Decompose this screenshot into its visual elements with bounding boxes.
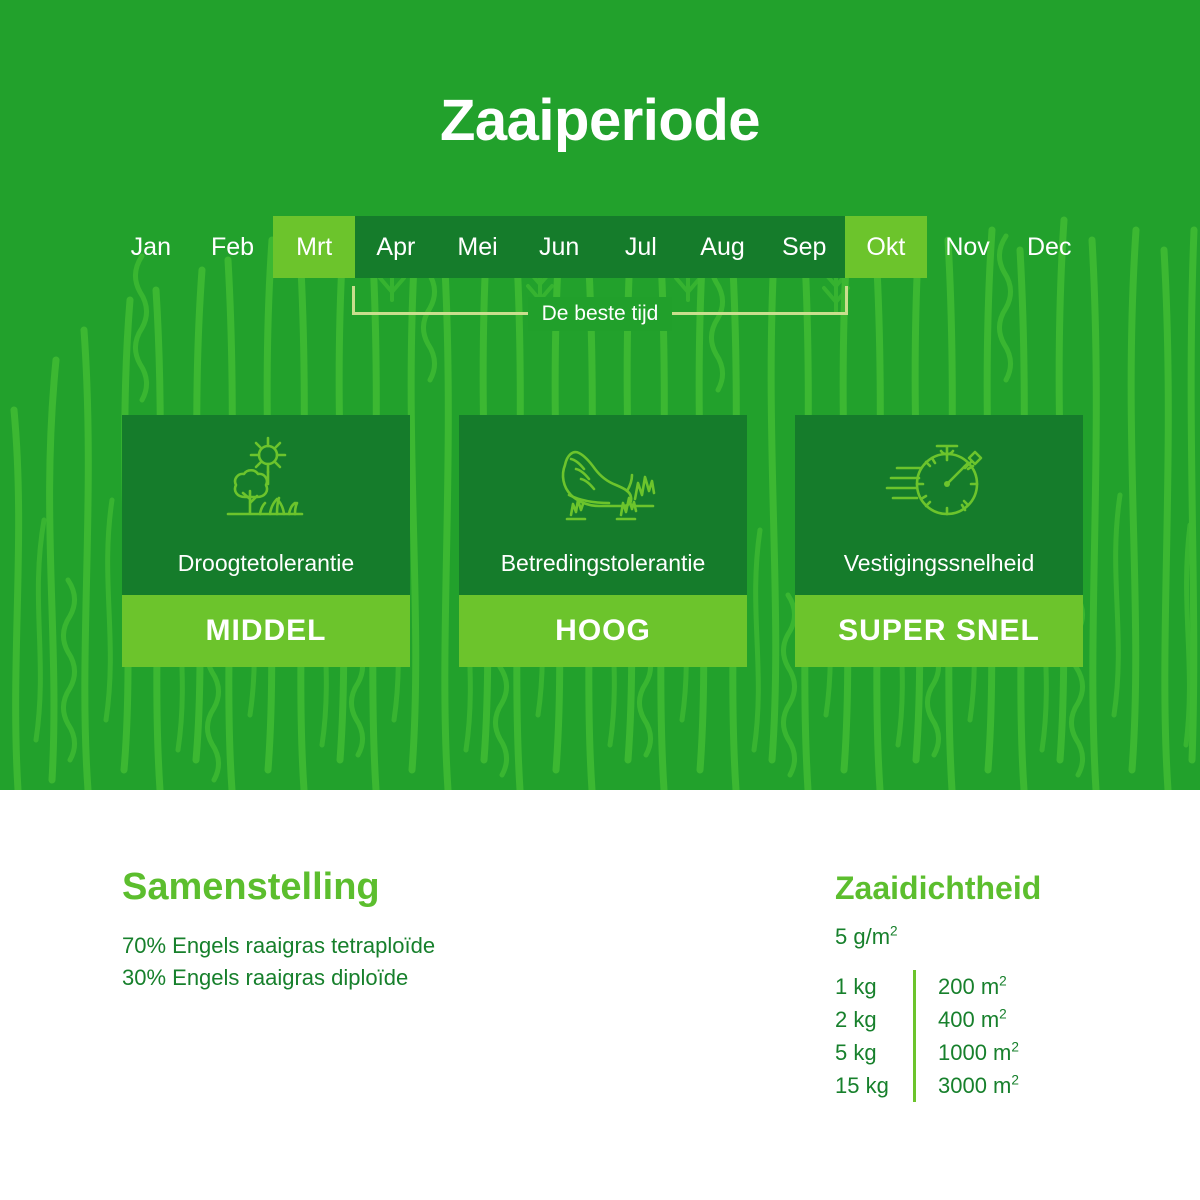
card-top: Droogtetolerantie (122, 415, 410, 595)
month-cell-dec[interactable]: Dec (1008, 216, 1090, 278)
attribute-card-wear-tolerance: Betredingstolerantie HOOG (459, 415, 747, 667)
card-label: Droogtetolerantie (122, 552, 410, 575)
density-weight: 1 kg (835, 976, 913, 998)
density-area: 3000 m2 (938, 1075, 1019, 1097)
month-cell-mrt[interactable]: Mrt (273, 216, 355, 278)
month-cell-feb[interactable]: Feb (192, 216, 274, 278)
composition-heading: Samenstelling (122, 868, 435, 906)
card-value: HOOG (459, 595, 747, 667)
attribute-card-establishment-speed: Vestigingssnelheid SUPER SNEL (795, 415, 1083, 667)
density-area-unit: 2 (999, 973, 1007, 988)
density-area: 200 m2 (938, 976, 1007, 998)
table-row: 1 kg 200 m2 (835, 970, 1041, 1003)
hero-section: Zaaiperiode Jan Feb Mrt Apr Mei Jun Jul … (0, 0, 1200, 790)
month-cell-sep[interactable]: Sep (763, 216, 845, 278)
density-area-value: 200 m (938, 974, 999, 999)
density-area-unit: 2 (999, 1006, 1007, 1021)
table-divider (913, 1036, 916, 1069)
month-cell-jan[interactable]: Jan (110, 216, 192, 278)
table-divider (913, 970, 916, 1003)
composition-list: 70% Engels raaigras tetraploïde 30% Enge… (122, 930, 435, 994)
density-block: Zaaidichtheid 5 g/m2 1 kg 200 m2 2 kg 40… (835, 872, 1041, 1102)
density-weight: 15 kg (835, 1075, 913, 1097)
stopwatch-speed-icon (795, 433, 1083, 525)
density-area-value: 1000 m (938, 1040, 1011, 1065)
density-table: 1 kg 200 m2 2 kg 400 m2 5 kg 1000 m2 15 … (835, 970, 1041, 1102)
month-cell-apr[interactable]: Apr (355, 216, 437, 278)
bracket-label-wrap: De beste tijd (352, 286, 848, 320)
list-item: 30% Engels raaigras diploïde (122, 962, 435, 994)
density-area-unit: 2 (1011, 1039, 1019, 1054)
density-heading: Zaaidichtheid (835, 872, 1041, 904)
density-weight: 2 kg (835, 1009, 913, 1031)
density-rate: 5 g/m2 (835, 926, 1041, 948)
table-divider (913, 1003, 916, 1036)
details-section: Samenstelling 70% Engels raaigras tetrap… (0, 790, 1200, 1200)
month-cell-aug[interactable]: Aug (682, 216, 764, 278)
sowing-period-month-bar: Jan Feb Mrt Apr Mei Jun Jul Aug Sep Okt … (110, 216, 1090, 278)
card-value: SUPER SNEL (795, 595, 1083, 667)
density-area-unit: 2 (1011, 1072, 1019, 1087)
shoe-grass-icon (459, 433, 747, 525)
table-row: 5 kg 1000 m2 (835, 1036, 1041, 1069)
card-top: Vestigingssnelheid (795, 415, 1083, 595)
card-top: Betredingstolerantie (459, 415, 747, 595)
table-row: 2 kg 400 m2 (835, 1003, 1041, 1036)
list-item: 70% Engels raaigras tetraploïde (122, 930, 435, 962)
month-cell-okt[interactable]: Okt (845, 216, 927, 278)
month-cell-jun[interactable]: Jun (518, 216, 600, 278)
density-area: 400 m2 (938, 1009, 1007, 1031)
density-rate-value: 5 g/m (835, 924, 890, 949)
month-cell-jul[interactable]: Jul (600, 216, 682, 278)
month-cell-nov[interactable]: Nov (927, 216, 1009, 278)
card-value: MIDDEL (122, 595, 410, 667)
attribute-card-drought-tolerance: Droogtetolerantie MIDDEL (122, 415, 410, 667)
card-label: Vestigingssnelheid (795, 552, 1083, 575)
month-cell-mei[interactable]: Mei (437, 216, 519, 278)
density-weight: 5 kg (835, 1042, 913, 1064)
table-row: 15 kg 3000 m2 (835, 1069, 1041, 1102)
page-title: Zaaiperiode (0, 92, 1200, 150)
density-area: 1000 m2 (938, 1042, 1019, 1064)
density-area-value: 400 m (938, 1007, 999, 1032)
table-divider (913, 1069, 916, 1102)
best-time-label: De beste tijd (528, 297, 673, 331)
density-rate-unit: 2 (890, 924, 898, 939)
best-time-bracket: De beste tijd (352, 286, 848, 320)
sun-tree-grass-icon (122, 433, 410, 525)
attribute-cards: Droogtetolerantie MIDDEL (0, 415, 1200, 670)
card-label: Betredingstolerantie (459, 552, 747, 575)
infographic-page: Zaaiperiode Jan Feb Mrt Apr Mei Jun Jul … (0, 0, 1200, 1200)
composition-block: Samenstelling 70% Engels raaigras tetrap… (122, 868, 435, 994)
density-area-value: 3000 m (938, 1073, 1011, 1098)
